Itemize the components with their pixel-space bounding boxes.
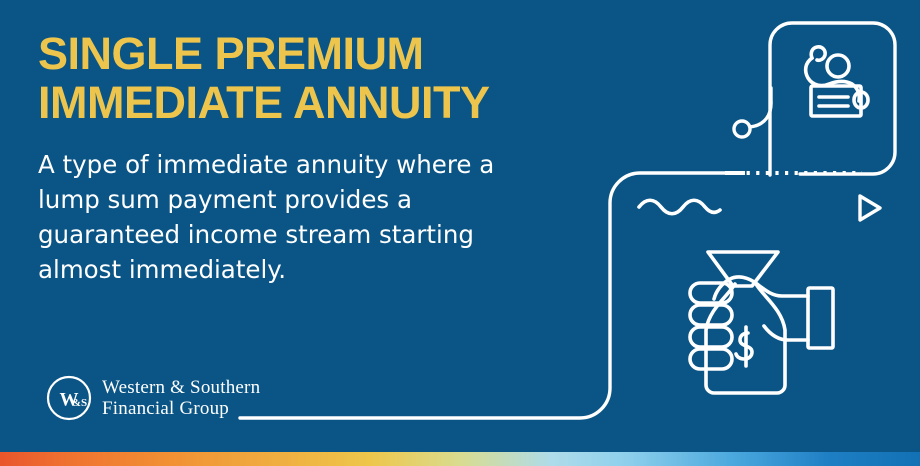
- description-text: A type of immediate annuity where a lump…: [38, 127, 508, 287]
- svg-text:&S: &S: [72, 397, 87, 409]
- bottom-gradient-bar: [0, 452, 920, 466]
- brand-logo-wordmark: Western & Southern Financial Group: [102, 377, 260, 420]
- brand-logo[interactable]: W &S Western & Southern Financial Group: [45, 374, 260, 422]
- ws-monogram-icon: W &S: [45, 374, 93, 422]
- page-title: SINGLE PREMIUM IMMEDIATE ANNUITY: [38, 30, 578, 127]
- text-content-block: SINGLE PREMIUM IMMEDIATE ANNUITY A type …: [38, 30, 578, 287]
- infographic-canvas: SINGLE PREMIUM IMMEDIATE ANNUITY A type …: [0, 0, 920, 466]
